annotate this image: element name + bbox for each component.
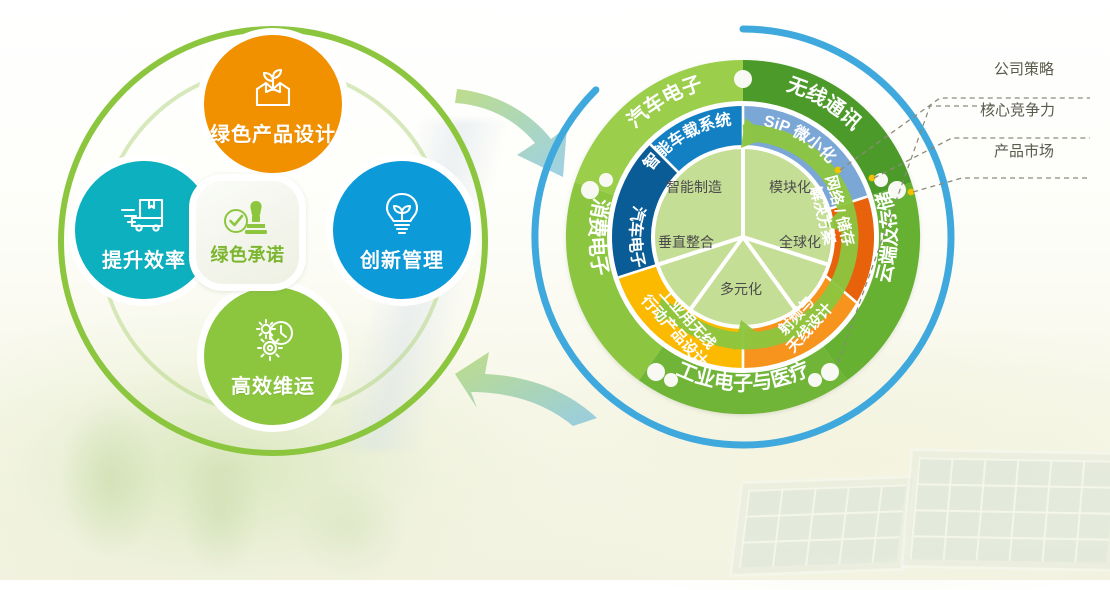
stamp-check-icon <box>220 199 276 239</box>
petal-label: 创新管理 <box>360 244 444 273</box>
gear-clock-icon <box>247 314 299 366</box>
solar-panel-right <box>900 448 1110 572</box>
anchor-dot-middle <box>869 175 876 182</box>
box-sprout-icon <box>247 62 299 114</box>
callout-company-strategy: 公司策略 <box>994 58 1054 79</box>
solar-panel-left <box>729 475 917 577</box>
inner-label-smart-manufacturing: 智能制造 <box>666 179 722 195</box>
inner-label-vertical-integration: 垂直整合 <box>658 234 714 250</box>
anchor-dot-outer <box>908 189 915 196</box>
petal-efficient-operations[interactable]: 高效维运 <box>197 280 349 432</box>
anchor-dot-inner <box>835 167 842 174</box>
inner-label-modularization: 模块化 <box>769 179 811 195</box>
bulb-leaf-icon <box>376 188 428 240</box>
infographic-stage: 绿色产品设计 提升效率 <box>0 0 1110 580</box>
petal-innovation-management[interactable]: 创新管理 <box>326 154 478 306</box>
inner-label-diversification: 多元化 <box>720 281 762 297</box>
petal-label: 绿色产品设计 <box>210 118 336 147</box>
callout-core-competitiveness: 核心竞争力 <box>980 99 1055 120</box>
callout-product-market: 产品市场 <box>994 140 1054 161</box>
petal-label: 高效维运 <box>231 370 315 399</box>
petal-label: 提升效率 <box>102 244 186 273</box>
center-badge-label: 绿色承诺 <box>211 241 285 267</box>
delivery-truck-icon <box>118 188 170 240</box>
petal-green-product-design[interactable]: 绿色产品设计 <box>197 28 349 180</box>
technology-wheel-diagram: 汽车电子 无线通讯 云端及存储 工业电子与医疗 消费电子 SiP 微小化 智能车… <box>528 22 958 452</box>
green-commitment-diagram: 绿色产品设计 提升效率 <box>58 26 488 456</box>
inner-label-globalization: 全球化 <box>779 234 821 250</box>
callout-legend: 公司策略 核心竞争力 产品市场 <box>960 52 1100 182</box>
center-badge-green-commitment[interactable]: 绿色承诺 <box>189 174 306 291</box>
